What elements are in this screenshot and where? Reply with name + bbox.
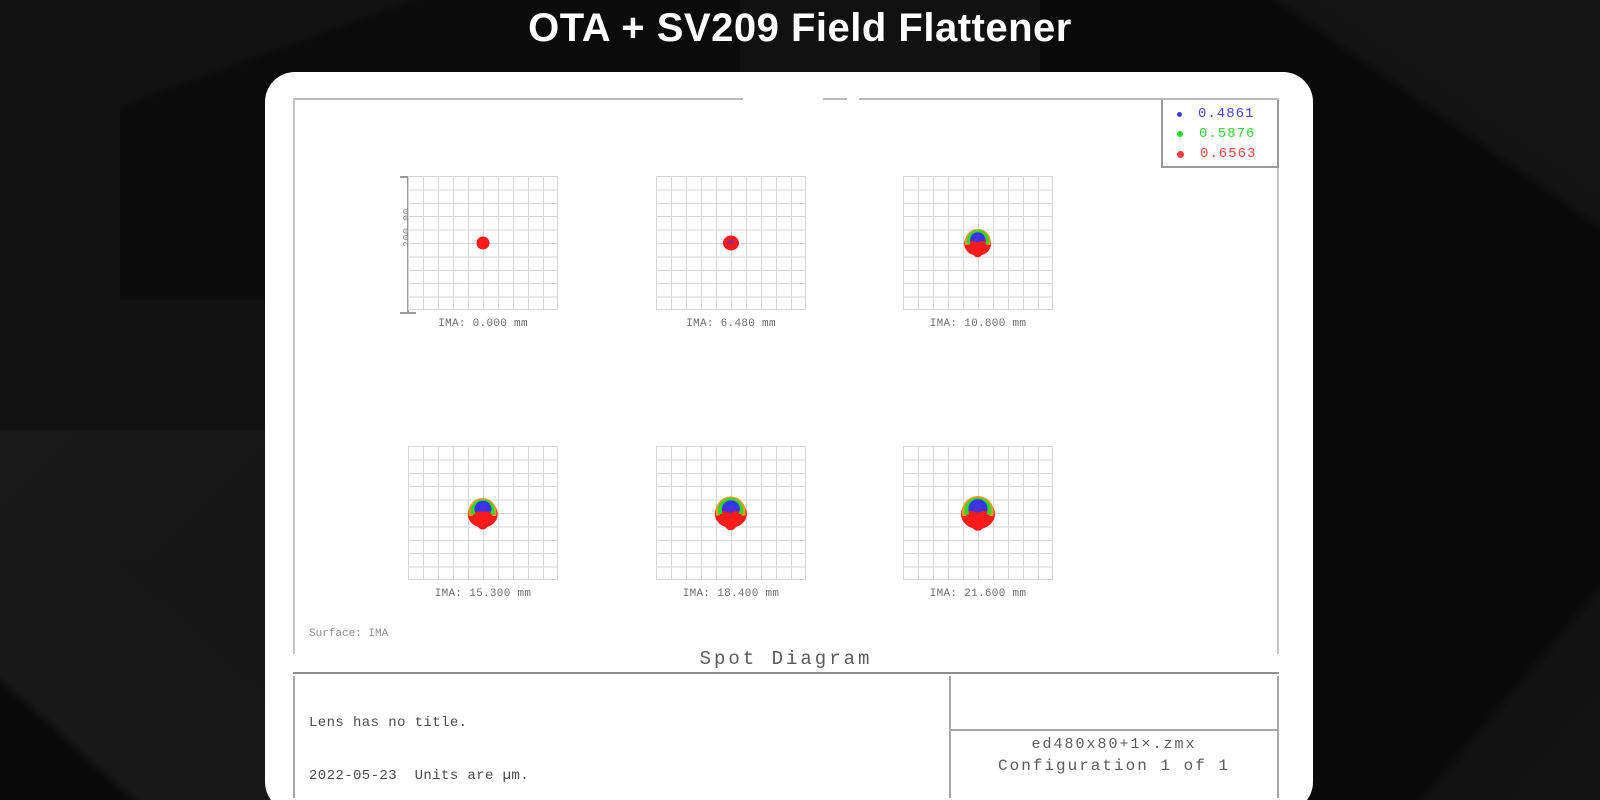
spot-diagram-card: 0.4861 0.5876 0.6563 200.00 IMA: 0. (265, 72, 1313, 800)
spot-blob (724, 514, 738, 530)
file-name: ed480x80+1×.zmx (951, 736, 1277, 753)
spot-panel: IMA: 15.300 mm (408, 446, 558, 600)
spot-panel: IMA: 10.800 mm (903, 176, 1053, 330)
spot-panel: IMA: 18.400 mm (656, 446, 806, 600)
spot-blob (972, 503, 984, 512)
spot-grid (903, 176, 1053, 310)
info-table: Lens has no title. 2022-05-23 Units are … (293, 676, 949, 798)
plot-frame: 0.4861 0.5876 0.6563 200.00 IMA: 0. (293, 98, 1279, 798)
plot-title-band: Spot Diagram (293, 648, 1279, 674)
screenshot-root: OTA + SV209 Field Flattener 0.4861 0.587… (0, 0, 1600, 800)
spot-blob (476, 236, 489, 249)
spot-panel-caption: IMA: 6.480 mm (656, 318, 806, 330)
file-info-divider (951, 729, 1277, 731)
spot-blob (728, 239, 734, 244)
spot-panel-caption: IMA: 0.000 mm (408, 318, 558, 330)
spot-panel-caption: IMA: 21.600 mm (903, 588, 1053, 600)
spot-panel-grid: IMA: 0.000 mmIMA: 6.480 mmIMA: 10.800 mm… (293, 98, 1279, 654)
file-info-box: ed480x80+1×.zmx Configuration 1 of 1 (949, 676, 1279, 798)
info-line-date-units: 2022-05-23 Units are µm. (309, 768, 949, 786)
spot-panel-caption: IMA: 18.400 mm (656, 588, 806, 600)
spot-blob (476, 514, 489, 529)
info-area: Lens has no title. 2022-05-23 Units are … (293, 676, 1279, 798)
spot-panel-caption: IMA: 15.300 mm (408, 588, 558, 600)
spot-grid (408, 176, 558, 310)
spot-blob (725, 504, 736, 513)
surface-label: Surface: IMA (309, 628, 388, 640)
spot-grid (408, 446, 558, 580)
spot-grid (656, 446, 806, 580)
spot-panel: IMA: 21.600 mm (903, 446, 1053, 600)
spot-panel: IMA: 6.480 mm (656, 176, 806, 330)
spot-panel: IMA: 0.000 mm (408, 176, 558, 330)
spot-blob (972, 244, 984, 258)
spot-panel-caption: IMA: 10.800 mm (903, 318, 1053, 330)
spot-blob (970, 514, 984, 531)
spot-grid (903, 446, 1053, 580)
spot-grid (656, 176, 806, 310)
plot-title: Spot Diagram (700, 648, 873, 670)
configuration-label: Configuration 1 of 1 (951, 757, 1277, 775)
info-line-lens: Lens has no title. (309, 715, 949, 733)
page-title: OTA + SV209 Field Flattener (0, 6, 1600, 51)
